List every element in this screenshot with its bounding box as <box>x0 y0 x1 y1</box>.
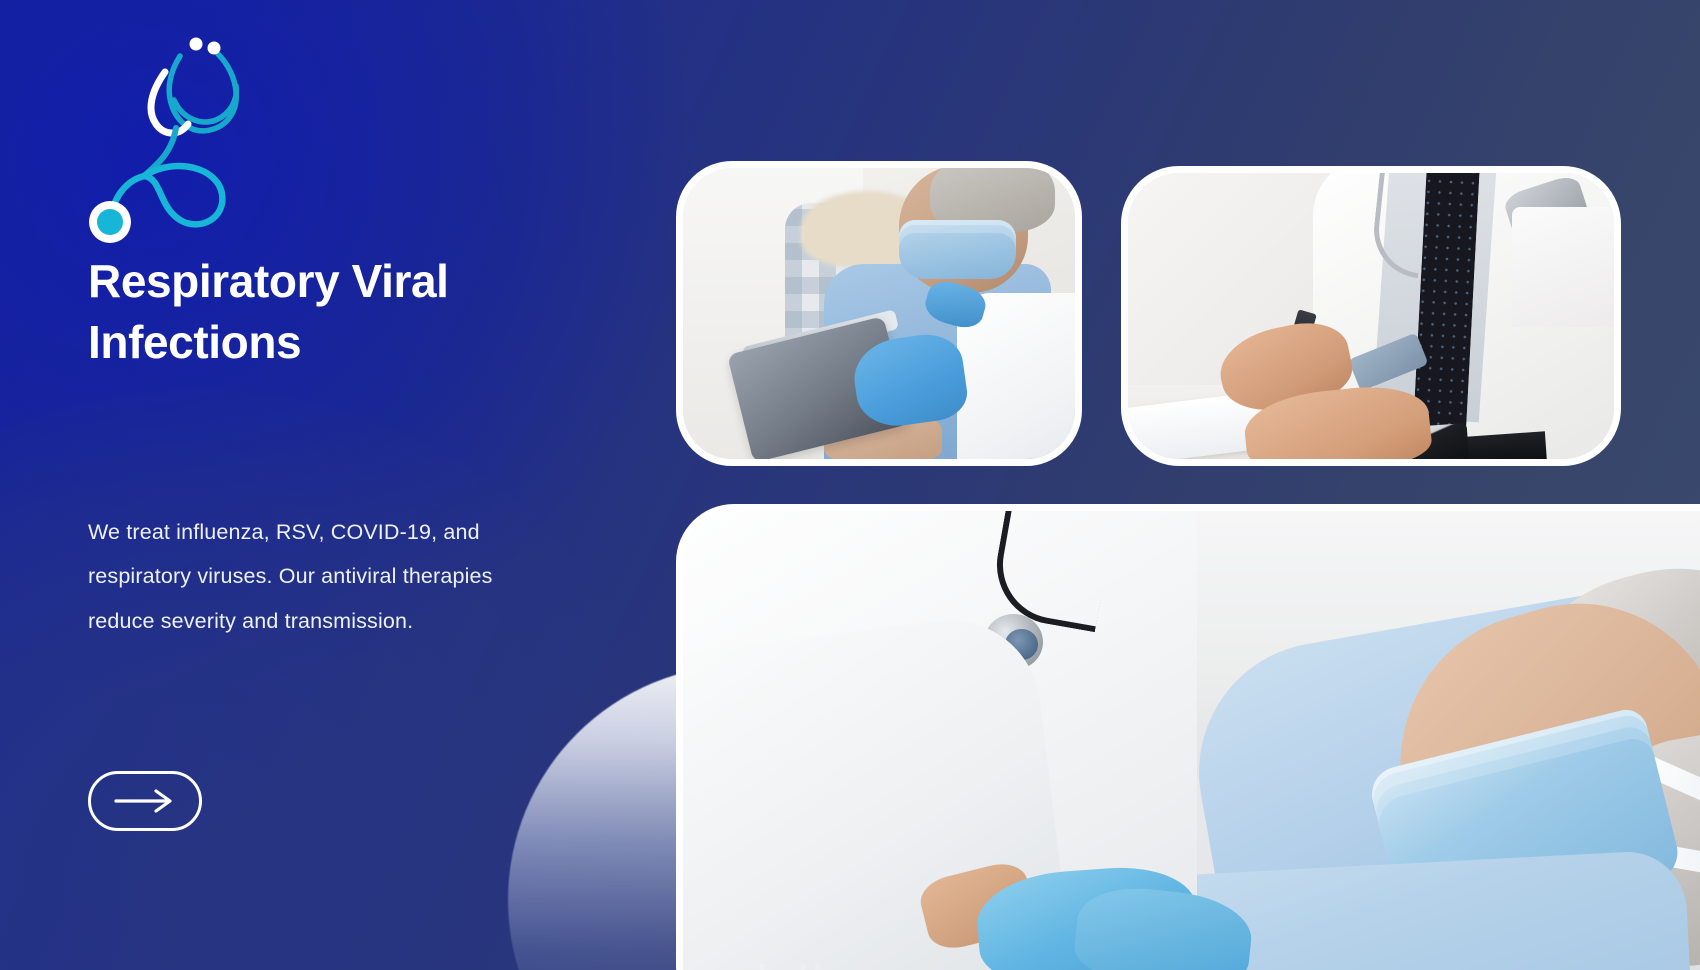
patient-tablet-photo[interactable] <box>676 161 1082 466</box>
arrow-right-icon <box>114 789 176 813</box>
hero-content-column: Respiratory Viral Infections We treat in… <box>0 0 640 970</box>
photo-content: الطب <box>683 511 1700 970</box>
page-title: Respiratory Viral Infections <box>88 251 558 372</box>
doctor-writing-photo[interactable] <box>1121 166 1621 466</box>
stethoscope-icon <box>88 28 288 243</box>
hero-banner: Respiratory Viral Infections We treat in… <box>0 0 1700 970</box>
image-watermark: الطب <box>705 891 1164 970</box>
photo-content <box>683 168 1075 459</box>
bedside-exam-photo[interactable]: الطب <box>676 504 1700 970</box>
next-arrow-button[interactable] <box>88 771 202 831</box>
hero-description: We treat influenza, RSV, COVID-19, and r… <box>88 510 548 643</box>
photo-content <box>1128 173 1614 459</box>
